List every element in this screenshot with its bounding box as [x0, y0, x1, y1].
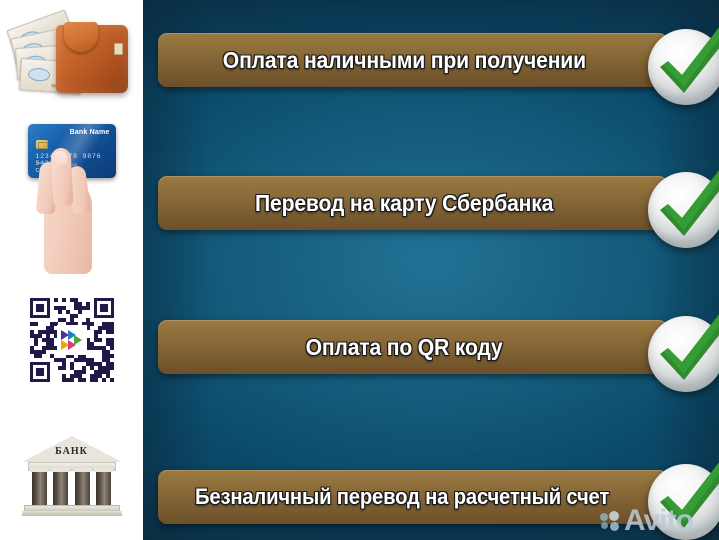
payment-method-bar-cash-on-delivery[interactable]: Оплата наличными при получении [158, 33, 668, 87]
bank-column [53, 471, 68, 505]
green-check-icon [648, 316, 719, 392]
bank-sign-text: БАНК [22, 446, 122, 457]
payment-method-label: Безналичный перевод на расчетный счет [195, 484, 609, 510]
payment-method-label: Перевод на карту Сбербанка [255, 190, 553, 217]
avito-dot [601, 522, 608, 529]
bank-columns [32, 471, 112, 505]
green-check-icon [648, 172, 719, 248]
wallet-flap [64, 22, 98, 52]
avito-dot [600, 513, 608, 521]
avito-dot [610, 522, 619, 531]
finger [50, 148, 73, 207]
wallet-with-banknotes-image [0, 0, 143, 118]
avito-dot [609, 511, 619, 521]
avito-dots-logo-icon [600, 511, 622, 531]
sbp-logo-icon [57, 325, 87, 355]
fingernail [54, 151, 67, 166]
leather-wallet [56, 25, 128, 93]
payment-method-label: Оплата наличными при получении [222, 47, 585, 74]
payment-methods-poster: Оплата наличными при получении Перевод н… [0, 0, 719, 540]
bank-column [32, 471, 47, 505]
avito-watermark: Avito [600, 506, 693, 536]
qr-code-image [0, 282, 143, 397]
green-check-icon [648, 29, 719, 105]
hand-illustration [32, 156, 104, 274]
check-glyph [648, 304, 719, 392]
hand-holding-bank-card-image: Bank Name 1234 5678 9876 5432 VALID THRU… [0, 112, 143, 282]
check-glyph [648, 17, 719, 105]
payment-method-bar-bank-wire-transfer[interactable]: Безналичный перевод на расчетный счет [158, 470, 668, 524]
sbp-triangle [74, 335, 82, 345]
bank-base [22, 511, 122, 516]
avito-brand-text: Avito [624, 506, 693, 536]
payment-method-bar-qr-code-payment[interactable]: Оплата по QR коду [158, 320, 668, 374]
check-glyph [648, 160, 719, 248]
illustration-column: Bank Name 1234 5678 9876 5432 VALID THRU… [0, 0, 143, 540]
card-bank-name: Bank Name [70, 129, 110, 136]
card-chip-icon [36, 140, 48, 149]
payment-method-label: Оплата по QR коду [306, 334, 503, 361]
wallet-tag [114, 43, 123, 55]
bank-building-image: БАНК [0, 410, 143, 540]
bank-column [75, 471, 90, 505]
bank-column [96, 471, 111, 505]
payment-method-bar-sberbank-card-transfer[interactable]: Перевод на карту Сбербанка [158, 176, 668, 230]
